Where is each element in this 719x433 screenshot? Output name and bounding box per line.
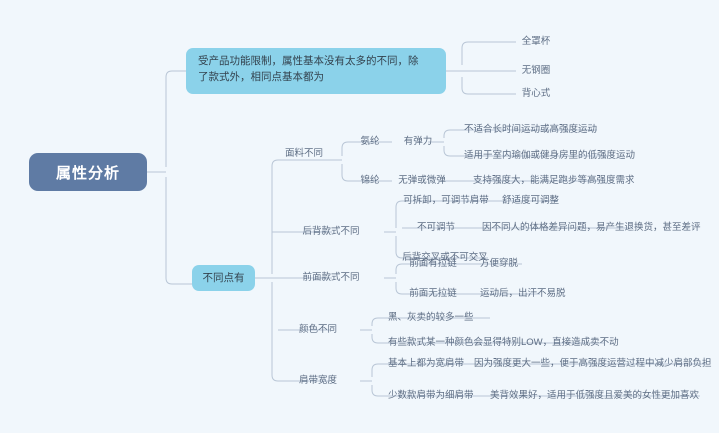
back-row0-desc1[interactable]: 舒适度可调整 (502, 195, 559, 207)
strap-row0-kind[interactable]: 基本上都为宽肩带 (388, 358, 464, 370)
branch-same-points-line2: 了款式外，相同点基本都为 (198, 69, 434, 85)
fabric-row0-desc1[interactable]: 不适合长时间运动或高强度运动 (464, 124, 597, 136)
strap-row1-desc1[interactable]: 美背效果好，适用于低强度且爱美的女性更加喜欢 (490, 390, 699, 402)
color-row0-kind[interactable]: 黑、灰卖的较多一些 (388, 312, 474, 324)
color-row1-kind[interactable]: 有些款式某一种颜色会显得特别LOW，直接造成卖不动 (388, 337, 619, 349)
root-label: 属性分析 (56, 162, 120, 183)
back-row1-desc1[interactable]: 因不同人的体格差异问题，易产生退换货，甚至差评 (482, 222, 701, 234)
front-row0-kind[interactable]: 前面有拉链 (409, 258, 457, 270)
fabric-row0-property[interactable]: 有弹力 (404, 136, 433, 148)
same-point-item-1[interactable]: 无钢圈 (522, 65, 551, 77)
mindmap-canvas: 属性分析 受产品功能限制，属性基本没有太多的不同，除 了款式外，相同点基本都为 … (0, 0, 719, 433)
fabric-row1-kind[interactable]: 锦纶 (360, 175, 379, 187)
fabric-row0-kind[interactable]: 氨纶 (360, 136, 379, 148)
front-row1-kind[interactable]: 前面无拉链 (409, 288, 457, 300)
fabric-row1-desc1[interactable]: 支持强度大，能满足跑步等高强度需求 (473, 175, 635, 187)
group-label-front-style[interactable]: 前面款式不同 (302, 272, 359, 284)
fabric-row0-desc2[interactable]: 适用于室内瑜伽或健身房里的低强度运动 (464, 150, 635, 162)
group-label-color[interactable]: 颜色不同 (299, 324, 337, 336)
branch-same-points[interactable]: 受产品功能限制，属性基本没有太多的不同，除 了款式外，相同点基本都为 (186, 48, 446, 94)
back-row0-kind[interactable]: 可拆卸，可调节肩带 (403, 195, 489, 207)
branch-diff-points-label: 不同点有 (203, 270, 245, 286)
group-label-fabric[interactable]: 面料不同 (285, 148, 323, 160)
group-label-strap-width[interactable]: 肩带宽度 (299, 375, 337, 387)
front-row0-desc1[interactable]: 方便穿脱 (480, 258, 518, 270)
branch-diff-points[interactable]: 不同点有 (192, 265, 255, 291)
same-point-item-2[interactable]: 背心式 (522, 88, 551, 100)
fabric-row1-property[interactable]: 无弹或微弹 (398, 175, 446, 187)
group-label-back-style[interactable]: 后背款式不同 (302, 226, 359, 238)
branch-same-points-line1: 受产品功能限制，属性基本没有太多的不同，除 (198, 53, 434, 69)
same-point-item-0[interactable]: 全罩杯 (522, 36, 551, 48)
strap-row1-kind[interactable]: 少数款肩带为细肩带 (388, 390, 474, 402)
strap-row0-desc1[interactable]: 因为强度更大一些，便于高强度运营过程中减少肩部负担 (474, 358, 712, 370)
front-row1-desc1[interactable]: 运动后，出汗不易脱 (480, 288, 566, 300)
root-node[interactable]: 属性分析 (29, 153, 147, 191)
back-row1-kind[interactable]: 不可调节 (417, 222, 455, 234)
